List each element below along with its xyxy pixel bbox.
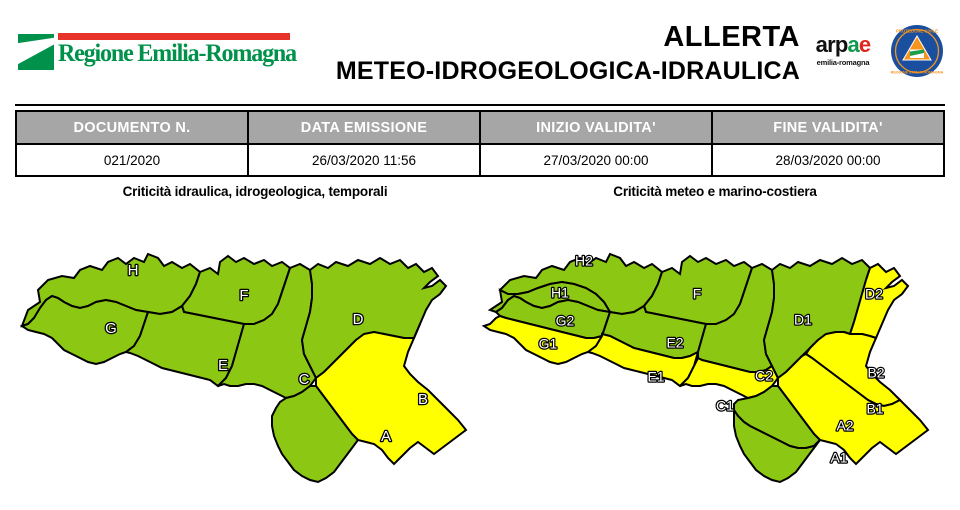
zone-label-A: A: [381, 428, 391, 445]
column-header-documento: DOCUMENTO N.: [16, 111, 248, 144]
table-row: 021/2020 26/03/2020 11:56 27/03/2020 00:…: [16, 144, 944, 176]
arpae-wordmark: arpae: [808, 34, 878, 56]
zone-label-H2: H2: [575, 253, 593, 269]
cell-documento-numero: 021/2020: [16, 144, 248, 176]
protezione-civile-logo-icon: PROTEZIONE CIVILE REGIONE EMILIA-ROMAGNA: [889, 23, 945, 79]
zone-label-F: F: [239, 287, 248, 304]
table-top-rule: [15, 104, 945, 106]
arpae-text-red: e: [859, 32, 870, 57]
zone-label-B: B: [418, 391, 428, 408]
map-title-idraulica: Criticità idraulica, idrogeologica, temp…: [30, 184, 480, 199]
zone-label-C2: C2: [755, 368, 773, 384]
zone-label-A1: A1: [830, 450, 847, 466]
zone-label-G: G: [105, 320, 117, 337]
column-header-fine-validita: FINE VALIDITA': [712, 111, 944, 144]
zone-label-E1: E1: [647, 369, 664, 385]
regione-emilia-romagna-logo: Regione Emilia-Romagna: [18, 32, 290, 72]
alert-title-block: ALLERTA METEO-IDROGEOLOGICA-IDRAULICA: [336, 22, 800, 86]
cell-fine-validita: 28/03/2020 00:00: [712, 144, 944, 176]
zone-label-C: C: [299, 371, 310, 388]
regione-flag-icon: [18, 34, 54, 70]
regione-wave-shape: [18, 37, 54, 67]
zone-label-B2: B2: [867, 365, 884, 381]
zone-label-C1: C1: [716, 398, 734, 414]
zone-label-D1: D1: [794, 312, 812, 328]
zone-label-H1: H1: [551, 285, 569, 301]
svg-text:PROTEZIONE CIVILE: PROTEZIONE CIVILE: [896, 29, 938, 34]
zone-label-G1: G1: [539, 336, 558, 352]
zone-label-A2: A2: [836, 418, 853, 434]
zone-label-D: D: [353, 311, 364, 328]
column-header-inizio-validita: INIZIO VALIDITA': [480, 111, 712, 144]
map-title-meteo: Criticità meteo e marino-costiera: [490, 184, 940, 199]
cell-data-emissione: 26/03/2020 11:56: [248, 144, 480, 176]
arpae-subtitle: emilia-romagna: [808, 58, 878, 67]
zone-label-F: F: [693, 286, 702, 302]
arpae-text-green: a: [847, 32, 858, 57]
alert-title-line1: ALLERTA: [336, 22, 800, 52]
page-header: Regione Emilia-Romagna ALLERTA METEO-IDR…: [0, 0, 960, 100]
alert-title-line2: METEO-IDROGEOLOGICA-IDRAULICA: [336, 56, 800, 86]
cell-inizio-validita: 27/03/2020 00:00: [480, 144, 712, 176]
zone-label-H: H: [128, 262, 139, 279]
document-info-table: DOCUMENTO N. DATA EMISSIONE INIZIO VALID…: [15, 110, 945, 177]
column-header-data-emissione: DATA EMISSIONE: [248, 111, 480, 144]
zone-label-E: E: [218, 357, 228, 374]
zone-label-B1: B1: [866, 401, 883, 417]
arpae-logo: arpae emilia-romagna: [808, 34, 878, 76]
zone-label-G2: G2: [556, 313, 575, 329]
arpae-text-black: arp: [816, 32, 848, 57]
regione-logo-text: Regione Emilia-Romagna: [58, 38, 285, 70]
table-header-row: DOCUMENTO N. DATA EMISSIONE INIZIO VALID…: [16, 111, 944, 144]
svg-text:REGIONE EMILIA-ROMAGNA: REGIONE EMILIA-ROMAGNA: [891, 71, 944, 75]
map-criticita-idraulica[interactable]: H G F E D C B A: [14, 214, 484, 499]
map-criticita-meteo[interactable]: H2 H1 G2 G1 F E2 E1 D2 D1 C2 C1 B2 B1 A2…: [476, 214, 946, 499]
zone-label-D2: D2: [865, 286, 883, 302]
zone-label-E2: E2: [666, 335, 683, 351]
